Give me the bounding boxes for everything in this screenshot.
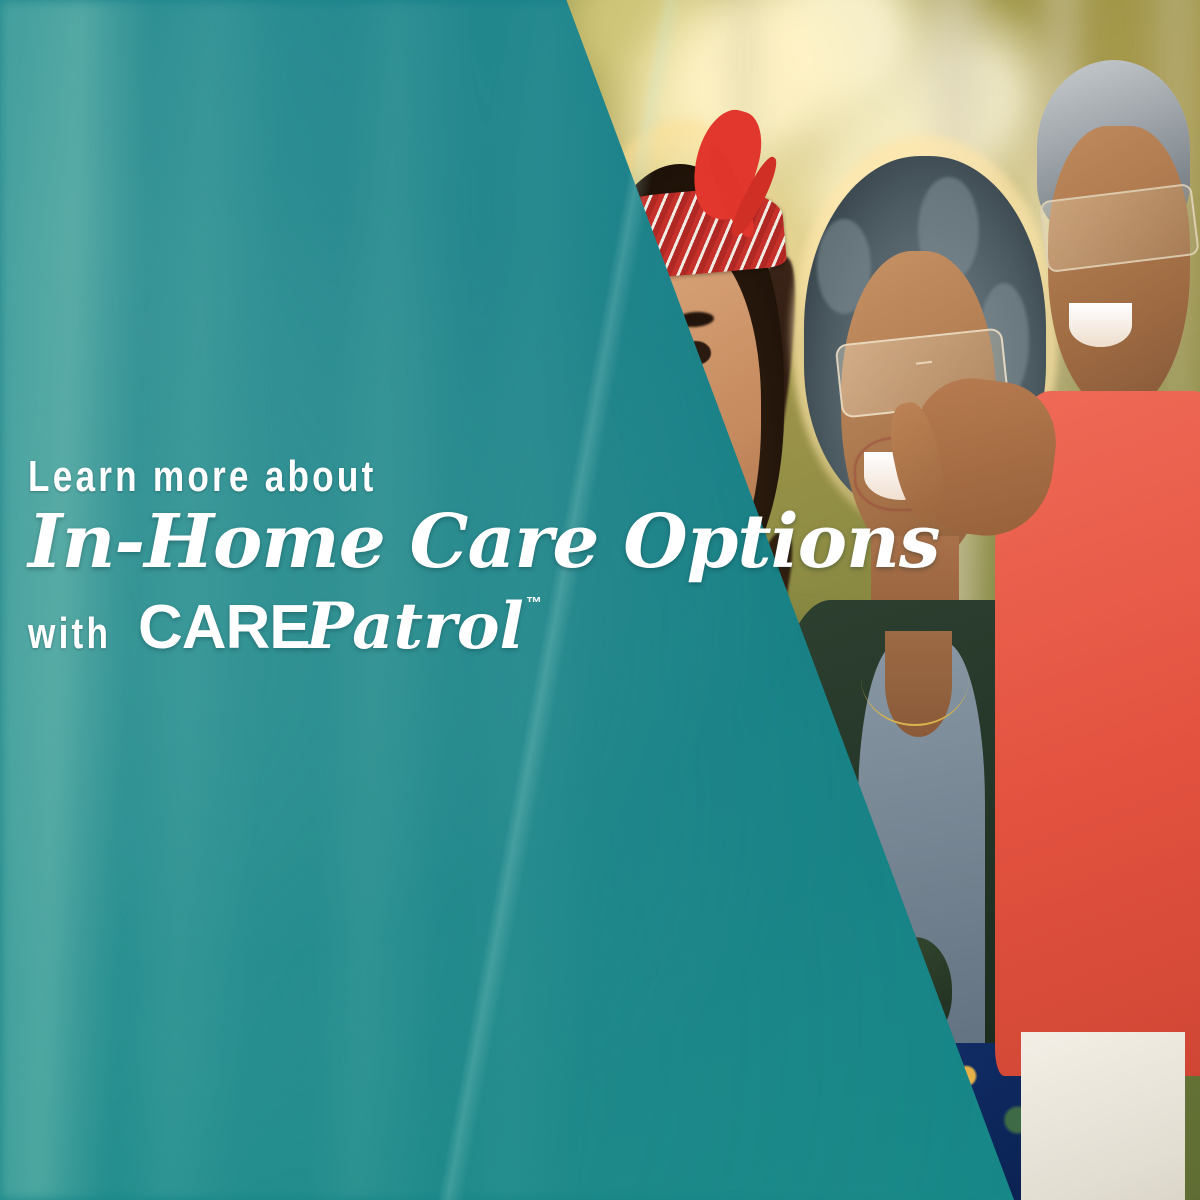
eyebrow-text: Learn more about — [28, 455, 636, 499]
brand-care-wordmark: CARE — [138, 592, 310, 663]
headline-copy-block: Learn more about In-Home Care Options wi… — [28, 455, 788, 664]
person-grandfather — [1032, 60, 1200, 1164]
carepatrol-logo: with CARE Patrol ™ — [28, 589, 788, 664]
page-title: In-Home Care Options — [28, 505, 788, 579]
grandfather-teeth — [1069, 303, 1132, 347]
grandfather-trousers — [1021, 1032, 1185, 1200]
carepatrol-hero-banner: #SUMMER — [0, 0, 1200, 1200]
grandmother-necklace — [861, 631, 969, 726]
with-word: with — [28, 609, 111, 659]
brand-patrol-wordmark: Patrol — [306, 589, 524, 664]
trademark-symbol: ™ — [526, 595, 542, 613]
